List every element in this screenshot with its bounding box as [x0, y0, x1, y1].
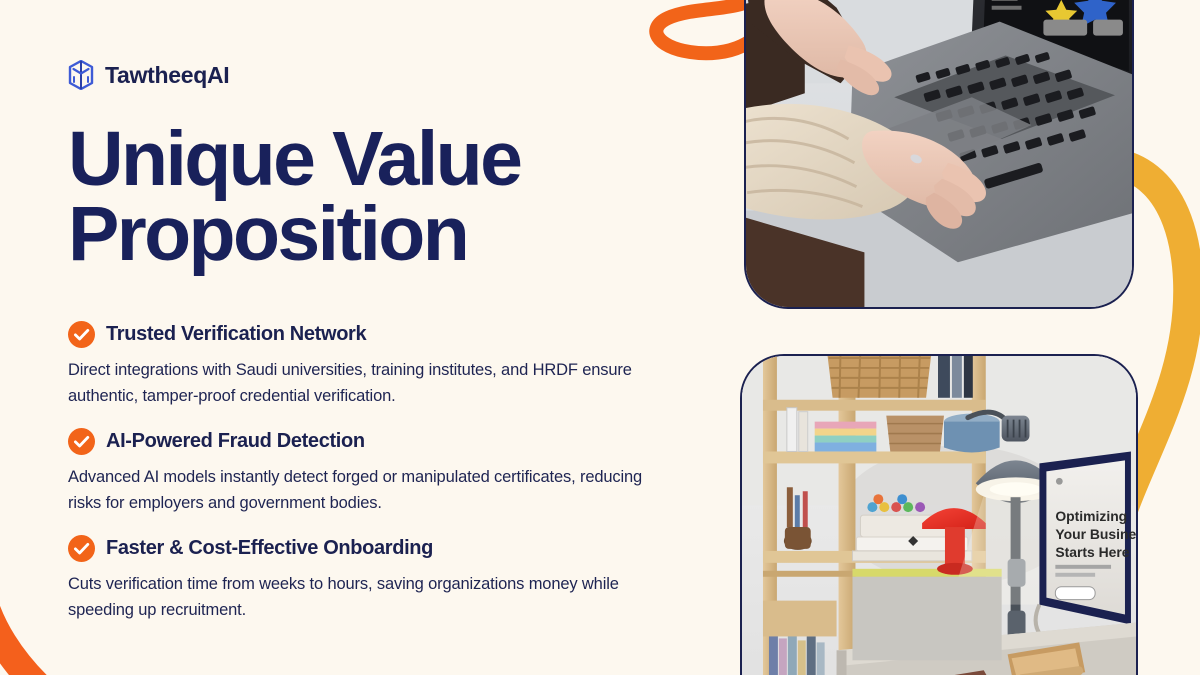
feature-description: Direct integrations with Saudi universit…: [68, 357, 654, 409]
brand-lockup: TawtheeqAI: [68, 58, 700, 92]
check-circle-icon: [68, 321, 95, 348]
laptop-photo-illustration: [746, 0, 1132, 307]
workspace-photo-illustration: Optimizing Your Business Starts Here: [742, 356, 1136, 675]
feature-title: AI-Powered Fraud Detection: [106, 430, 365, 453]
list-item: Faster & Cost-Effective Onboarding Cuts …: [68, 535, 654, 623]
hexagon-cube-icon: [68, 60, 94, 90]
check-circle-icon: [68, 428, 95, 455]
check-circle-icon: [68, 535, 95, 562]
feature-description: Advanced AI models instantly detect forg…: [68, 464, 654, 516]
feature-header: Faster & Cost-Effective Onboarding: [68, 535, 654, 562]
monitor-headline-line3: Starts Here: [1055, 544, 1129, 560]
feature-title: Faster & Cost-Effective Onboarding: [106, 537, 433, 560]
list-item: Trusted Verification Network Direct inte…: [68, 321, 654, 409]
content-column: TawtheeqAI Unique Value Proposition Trus…: [0, 0, 700, 675]
feature-header: AI-Powered Fraud Detection: [68, 428, 654, 455]
feature-header: Trusted Verification Network: [68, 321, 654, 348]
monitor-headline-line2: Your Business: [1055, 526, 1136, 542]
headline-line-1: Unique Value: [68, 122, 668, 197]
feature-description: Cuts verification time from weeks to hou…: [68, 571, 654, 623]
feature-title: Trusted Verification Network: [106, 323, 366, 346]
brand-name: TawtheeqAI: [105, 62, 229, 89]
hands-typing-on-laptop-photo: [744, 0, 1134, 309]
home-office-workspace-photo: Optimizing Your Business Starts Here: [740, 354, 1138, 675]
headline-line-2: Proposition: [68, 197, 668, 272]
monitor-headline-line1: Optimizing: [1055, 508, 1127, 524]
slide-root: TawtheeqAI Unique Value Proposition Trus…: [0, 0, 1200, 675]
feature-list: Trusted Verification Network Direct inte…: [68, 321, 654, 623]
page-title: Unique Value Proposition: [68, 122, 668, 273]
list-item: AI-Powered Fraud Detection Advanced AI m…: [68, 428, 654, 516]
